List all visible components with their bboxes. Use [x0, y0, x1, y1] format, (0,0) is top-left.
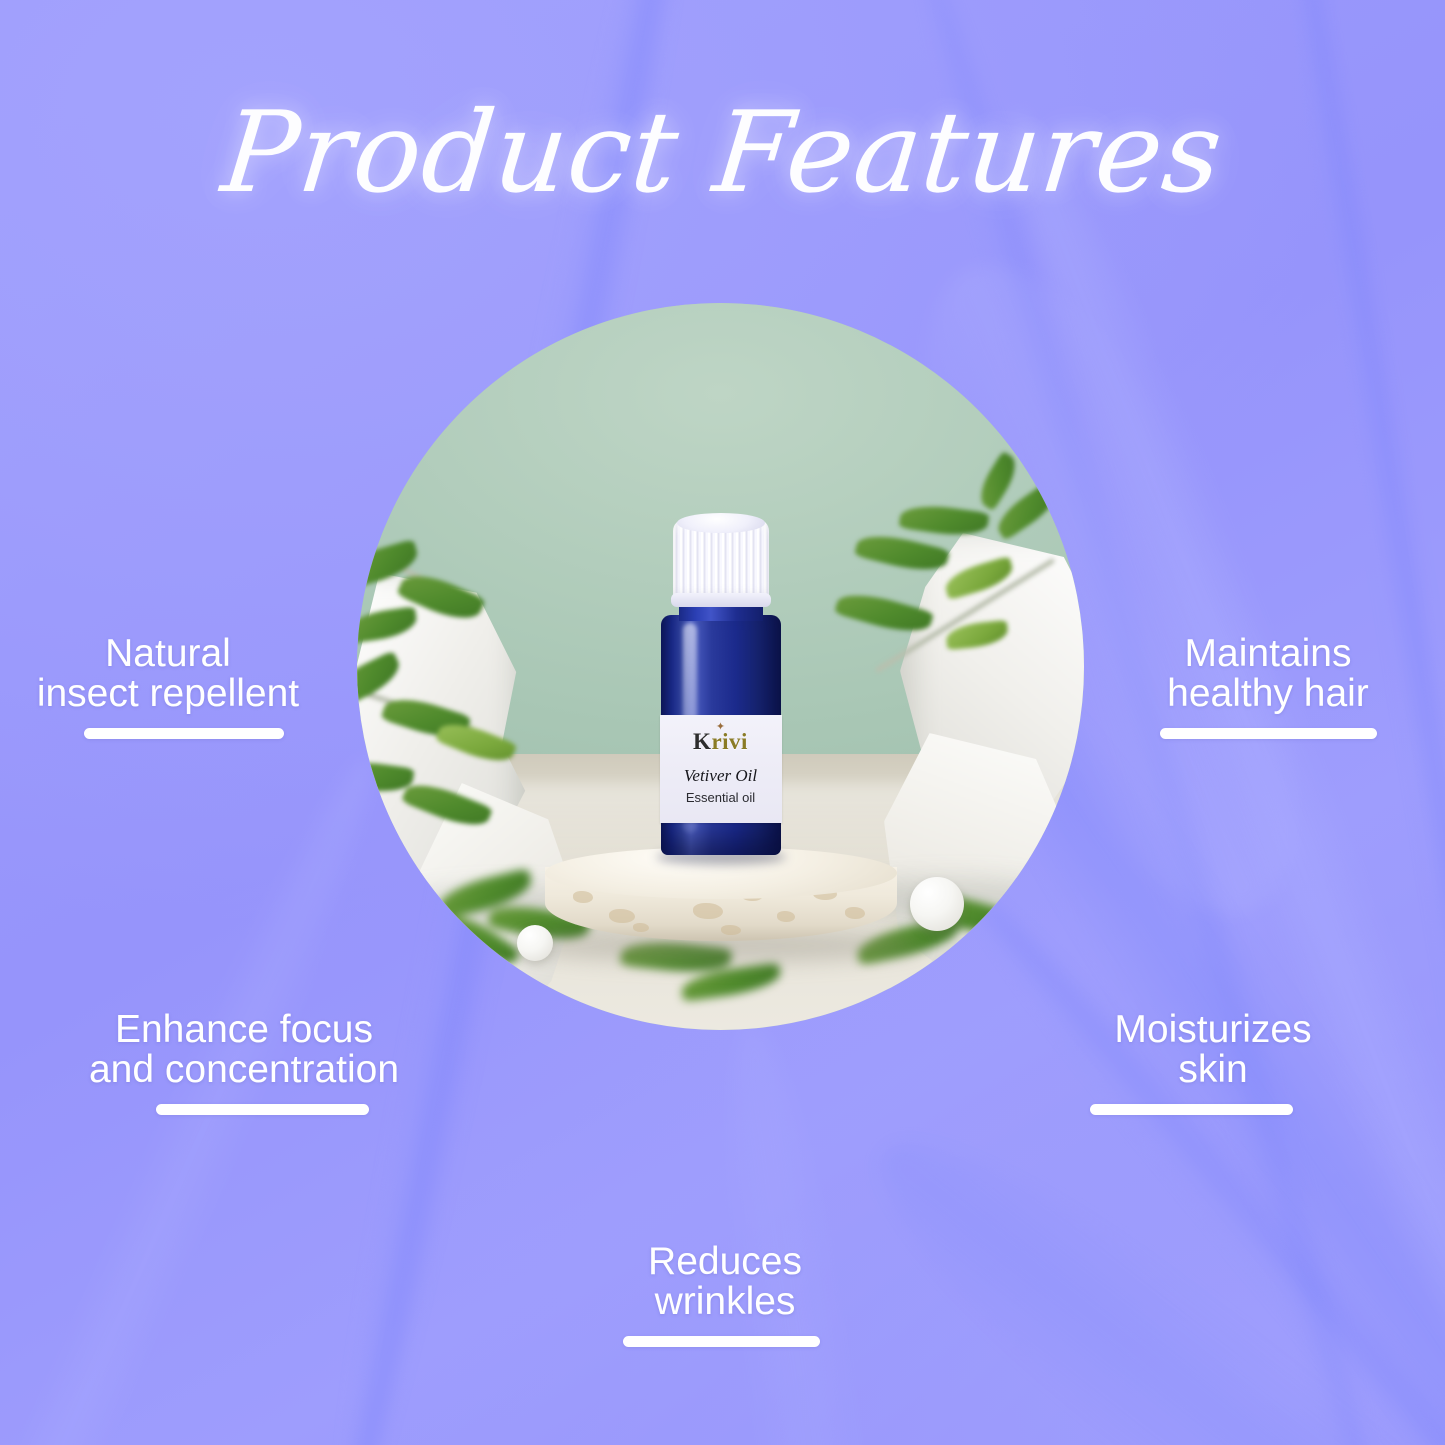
feature-label: Maintains healthy hair — [1108, 634, 1428, 714]
decor-sphere-left — [517, 925, 553, 961]
leaf — [899, 501, 990, 540]
feature-underline — [84, 728, 284, 739]
product-subtitle: Essential oil — [660, 791, 782, 805]
feature-reduces-wrinkles: Reduces wrinkles — [575, 1242, 875, 1347]
feature-natural-insect-repellent: Natural insect repellent — [0, 634, 336, 739]
leaf — [401, 776, 493, 835]
feature-underline — [156, 1104, 369, 1115]
feature-maintains-healthy-hair: Maintains healthy hair — [1108, 634, 1428, 739]
feature-underline — [623, 1336, 820, 1347]
decor-leaf-sprig-right — [800, 473, 1060, 723]
leaf — [854, 528, 950, 577]
bottle-cap-rim — [671, 593, 771, 607]
feature-label: Moisturizes skin — [1056, 1010, 1370, 1090]
feature-label: Enhance focus and concentration — [44, 1010, 444, 1090]
decor-sphere-right — [910, 877, 964, 931]
product-name: Vetiver Oil — [660, 767, 782, 785]
feature-underline — [1160, 728, 1377, 739]
feature-label: Natural insect repellent — [0, 634, 336, 714]
leaf — [834, 586, 934, 639]
product-photo-circle: ✦ Krivi Vetiver Oil Essential oil — [357, 303, 1084, 1030]
bottle-label: ✦ Krivi Vetiver Oil Essential oil — [660, 715, 782, 823]
feature-label: Reduces wrinkles — [575, 1242, 875, 1322]
decor-leaf-sprig-left — [357, 553, 591, 843]
feature-moisturizes-skin: Moisturizes skin — [1056, 1010, 1370, 1115]
leaf — [942, 556, 1016, 600]
leaf — [357, 606, 419, 643]
feature-enhance-focus: Enhance focus and concentration — [44, 1010, 444, 1115]
brand-initial: K — [693, 729, 711, 754]
page-title: Product Features — [0, 92, 1445, 215]
brand-rest: rivi — [711, 729, 748, 754]
bottle-cap-top — [677, 513, 765, 533]
feature-underline — [1090, 1104, 1293, 1115]
brand-logo: Krivi — [660, 730, 782, 754]
